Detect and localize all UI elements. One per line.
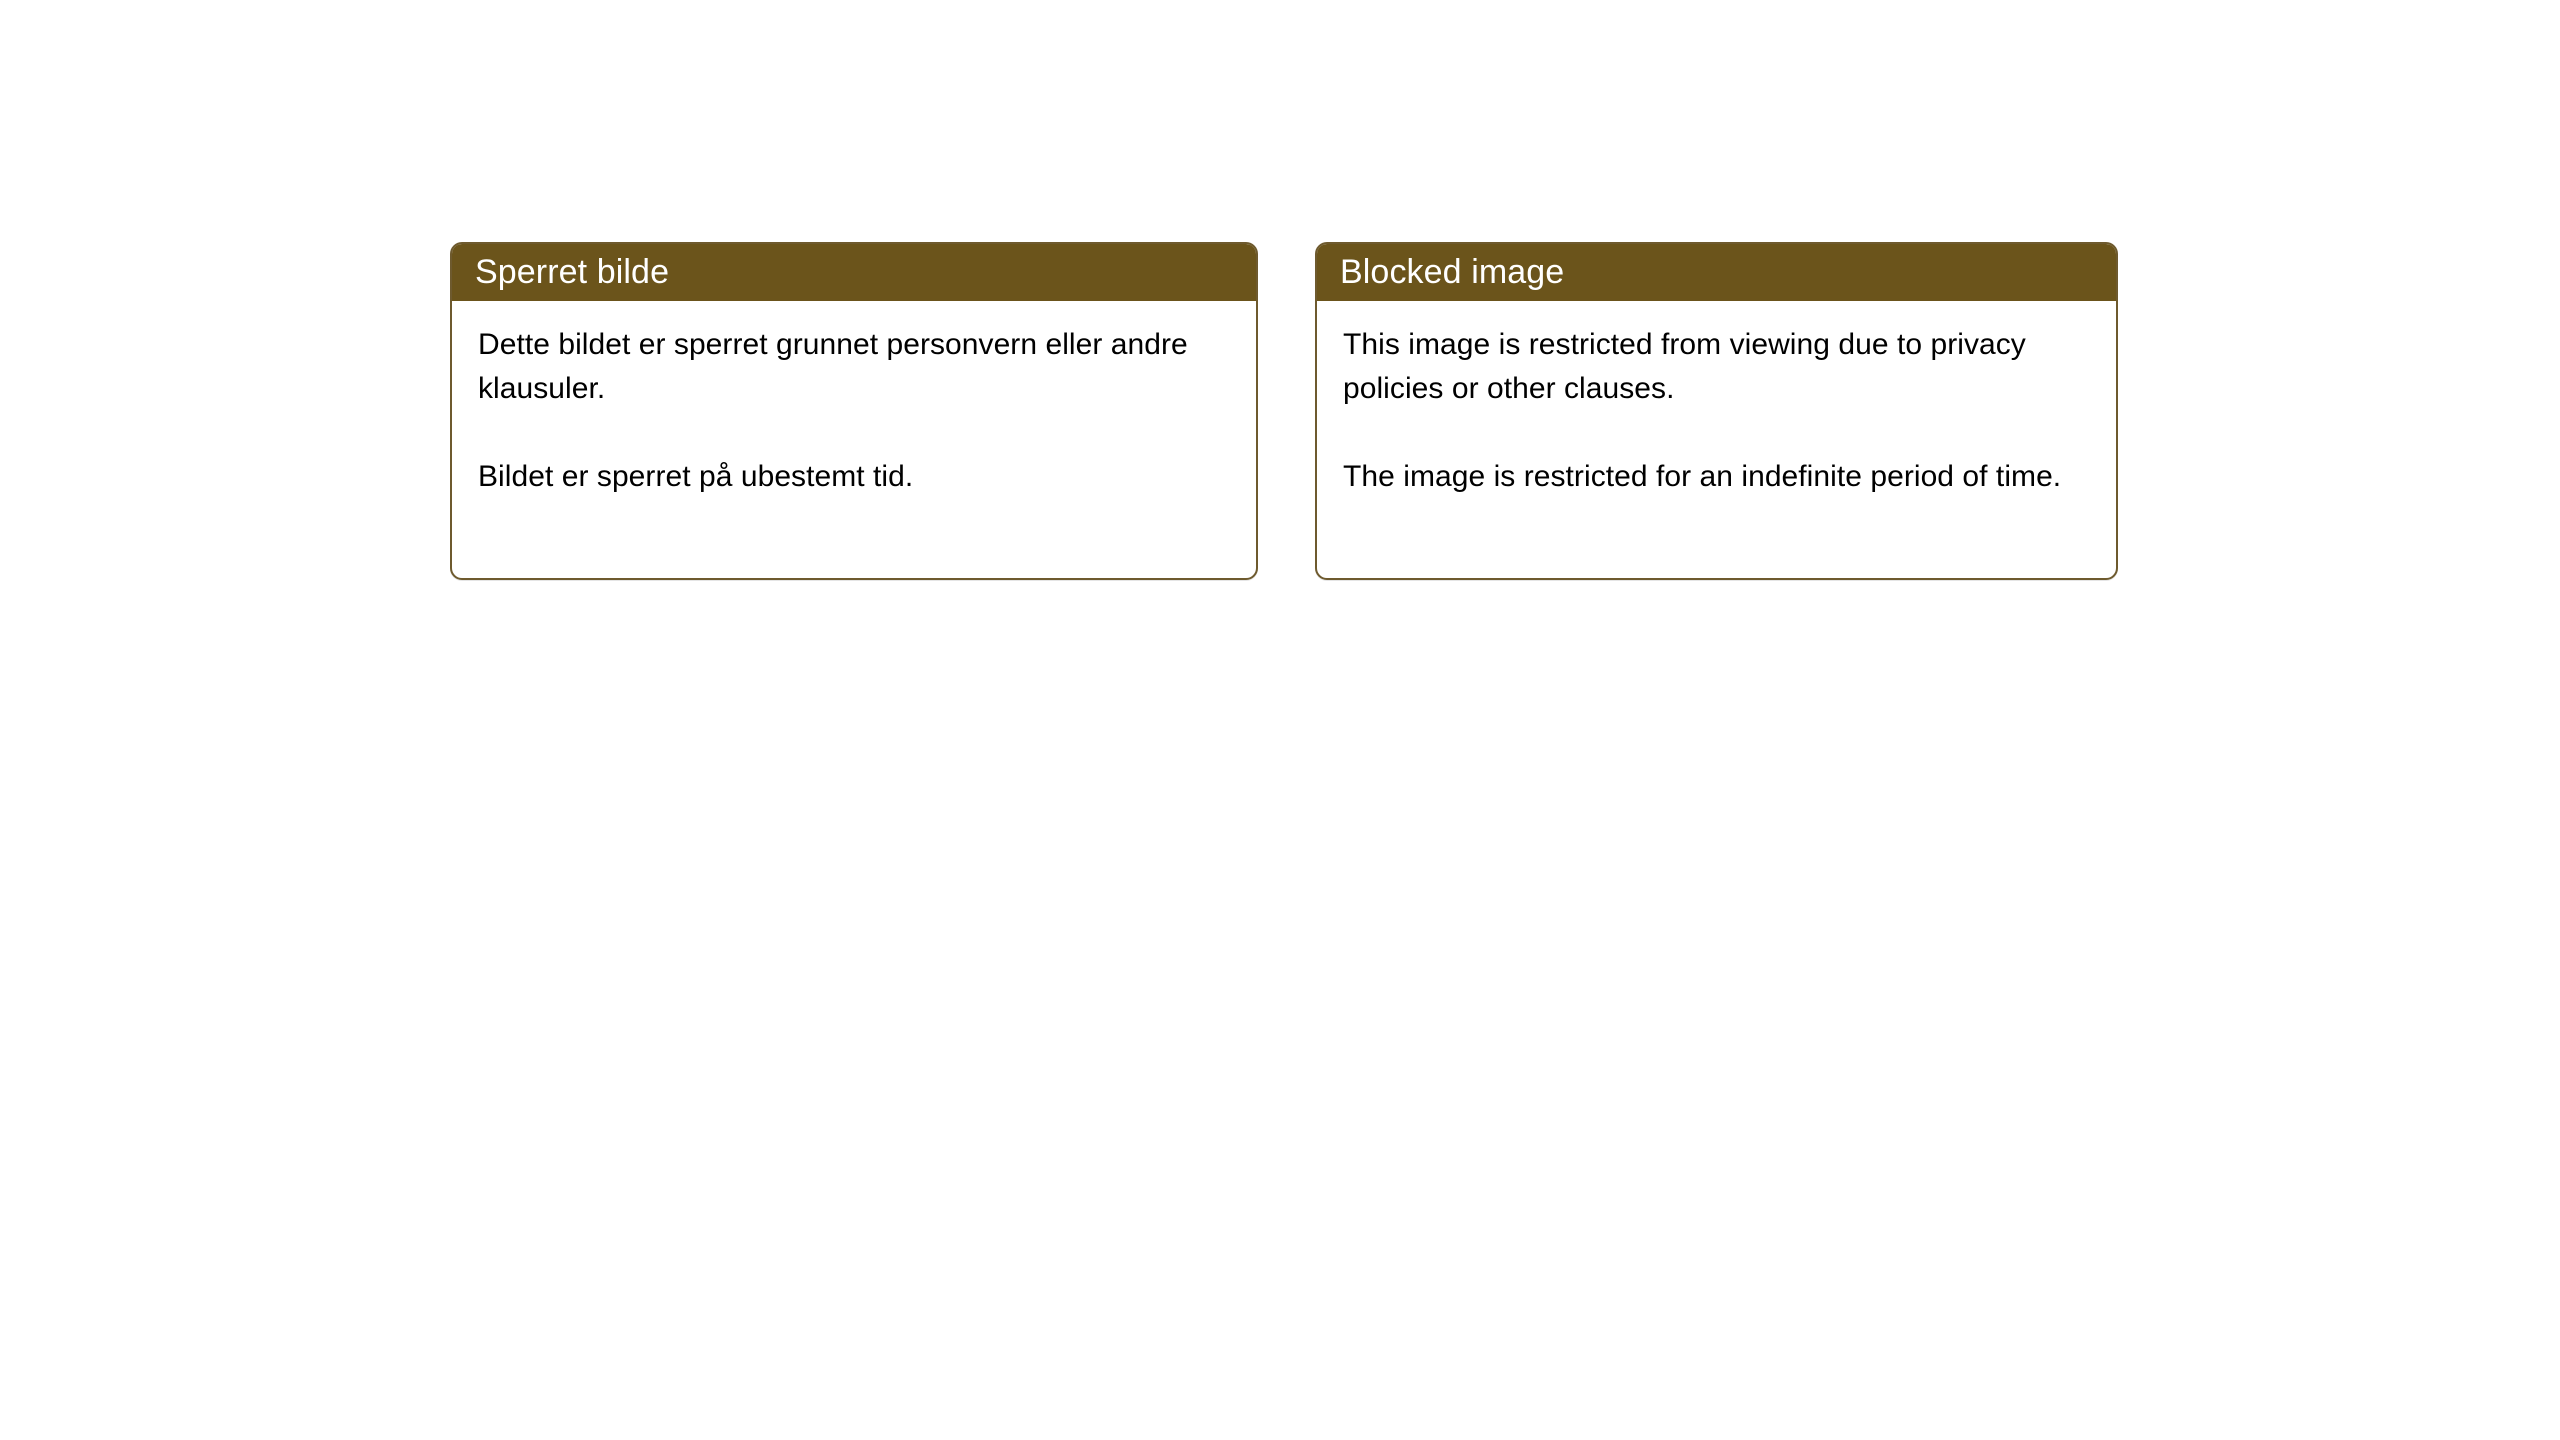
card-paragraph-secondary-norwegian: Bildet er sperret på ubestemt tid. [478,455,1230,499]
card-body-english: This image is restricted from viewing du… [1317,301,2116,499]
card-paragraph-primary-norwegian: Dette bildet er sperret grunnet personve… [478,323,1230,411]
card-header-english: Blocked image [1316,243,2117,301]
blocked-image-card-norwegian: Sperret bilde Dette bildet er sperret gr… [450,242,1258,580]
card-header-norwegian: Sperret bilde [451,243,1257,301]
paragraph-spacer [1343,411,2090,455]
page-root: Sperret bilde Dette bildet er sperret gr… [0,0,2560,1440]
card-body-norwegian: Dette bildet er sperret grunnet personve… [452,301,1256,499]
card-title-norwegian: Sperret bilde [475,253,669,291]
blocked-image-card-english: Blocked image This image is restricted f… [1315,242,2118,580]
card-title-english: Blocked image [1340,253,1564,291]
paragraph-spacer [478,411,1230,455]
card-paragraph-secondary-english: The image is restricted for an indefinit… [1343,455,2090,499]
card-paragraph-primary-english: This image is restricted from viewing du… [1343,323,2090,411]
